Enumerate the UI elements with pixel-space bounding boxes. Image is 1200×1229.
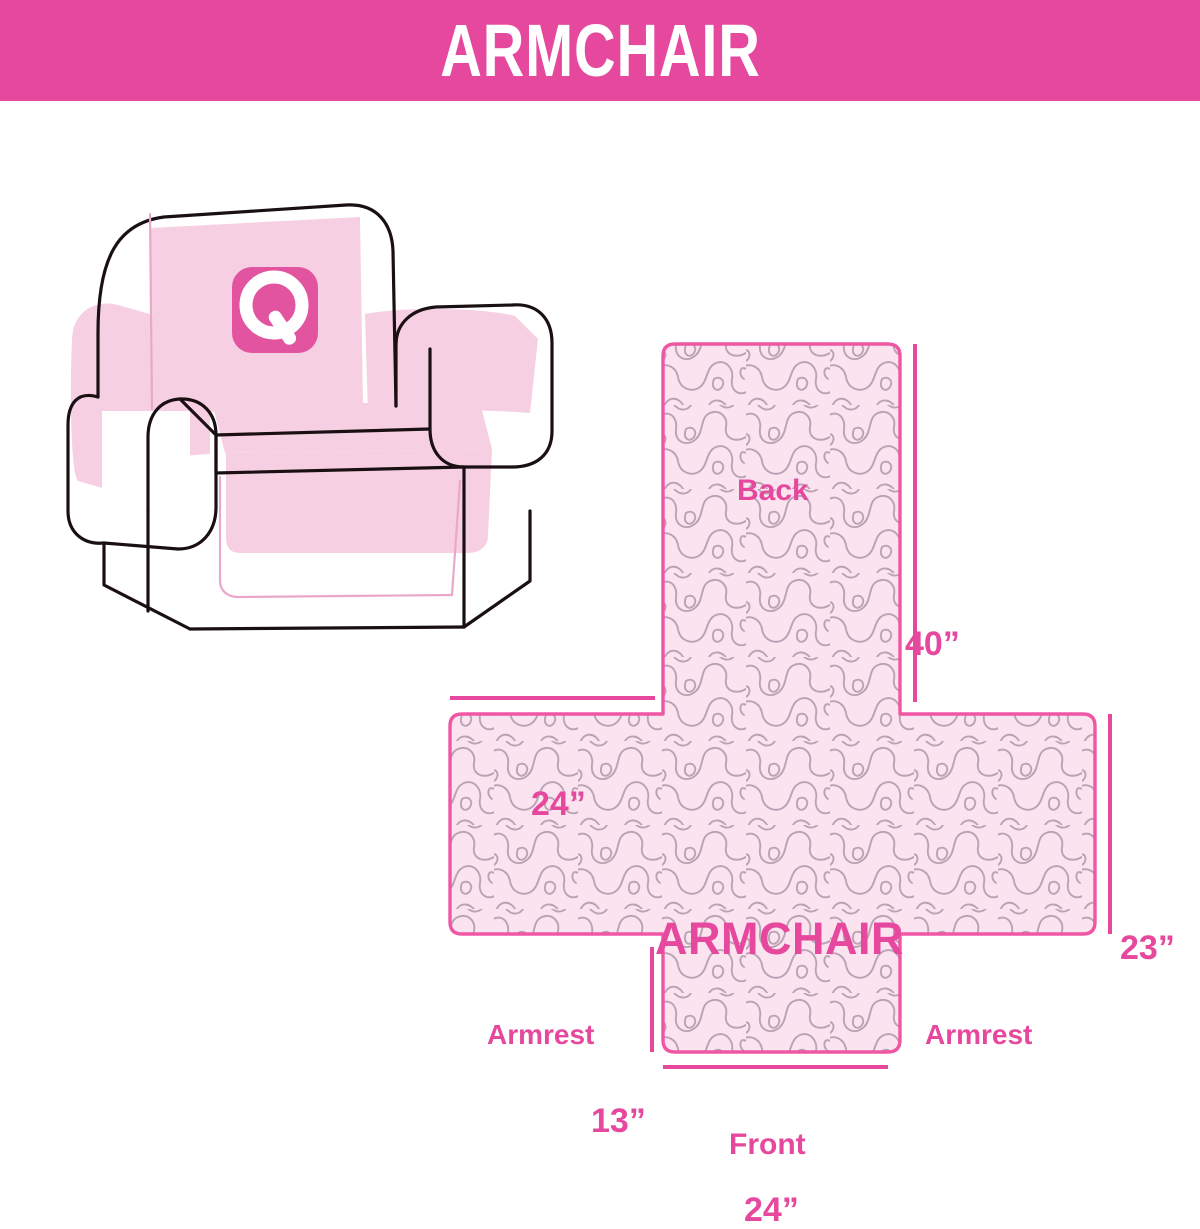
header-banner: ARMCHAIR <box>0 0 1200 101</box>
panel-label-front: Front <box>729 1130 806 1160</box>
dimension-value-back-height: 40” <box>905 627 960 661</box>
dimension-value-front-depth: 13” <box>591 1104 646 1138</box>
dimension-value-back-width: 24” <box>531 787 586 821</box>
panel-label-armrest-left: Armrest <box>487 1021 594 1049</box>
q-brand-badge <box>232 267 318 353</box>
panel-label-armrest-right: Armrest <box>925 1021 1032 1049</box>
panel-label-back: Back <box>737 476 809 506</box>
page-title: ARMCHAIR <box>440 14 760 88</box>
dimension-value-body-height: 23” <box>1120 931 1175 965</box>
illustration-stage: Back ARMCHAIR Armrest Armrest Front 40” … <box>0 101 1200 1200</box>
dimension-value-front-width: 24” <box>744 1193 799 1227</box>
product-dimension-infographic: ARMCHAIR <box>0 0 1200 1200</box>
pattern-center-label: ARMCHAIR <box>655 916 904 961</box>
